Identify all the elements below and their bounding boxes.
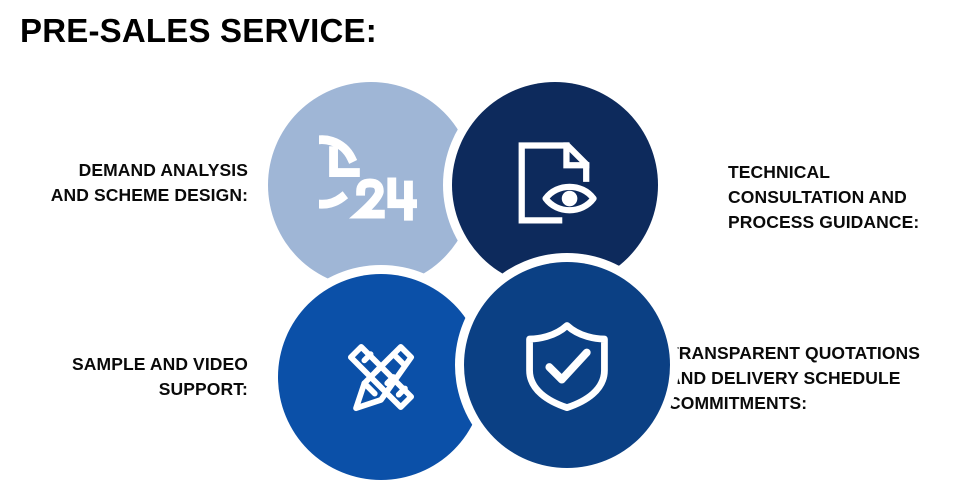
- page-title: PRE-SALES SERVICE:: [20, 8, 377, 54]
- label-line: SAMPLE AND VIDEO: [0, 352, 248, 377]
- label-line: SUPPORT:: [0, 377, 248, 402]
- clock-24-arrow-icon: [319, 133, 423, 237]
- label-line: AND SCHEME DESIGN:: [0, 183, 248, 208]
- label-technical-consultation: TECHNICAL CONSULTATION AND PROCESS GUIDA…: [728, 160, 960, 235]
- label-transparent-quotations: TRANSPARENT QUOTATIONS AND DELIVERY SCHE…: [668, 341, 960, 416]
- shield-check-icon: [515, 313, 619, 417]
- pencil-ruler-icon: [329, 325, 433, 429]
- document-eye-icon: [503, 133, 607, 237]
- circle-demand-analysis[interactable]: [268, 82, 474, 288]
- circle-transparent-quotations[interactable]: [464, 262, 670, 468]
- label-sample-video: SAMPLE AND VIDEO SUPPORT:: [0, 352, 248, 402]
- circle-sample-video[interactable]: [278, 274, 484, 480]
- label-line: PROCESS GUIDANCE:: [728, 210, 960, 235]
- label-line: CONSULTATION AND: [728, 185, 960, 210]
- label-line: TRANSPARENT QUOTATIONS: [668, 341, 960, 366]
- label-line: TECHNICAL: [728, 160, 960, 185]
- label-line: AND DELIVERY SCHEDULE: [668, 366, 960, 391]
- label-demand-analysis: DEMAND ANALYSIS AND SCHEME DESIGN:: [0, 158, 248, 208]
- label-line: COMMITMENTS:: [668, 391, 960, 416]
- label-line: DEMAND ANALYSIS: [0, 158, 248, 183]
- circle-cluster: [268, 82, 672, 482]
- circle-technical-consultation[interactable]: [452, 82, 658, 288]
